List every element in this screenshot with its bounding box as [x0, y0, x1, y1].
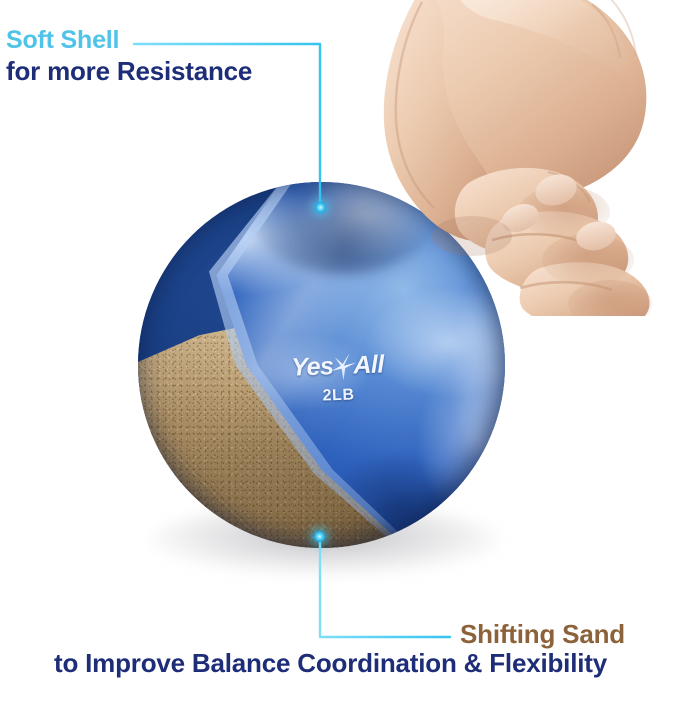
- product-photo: Yes All 2LB: [0, 0, 679, 720]
- product-callout-image: Yes All 2LB: [0, 0, 679, 720]
- bottom-leader-endpoint-dot: [314, 531, 325, 542]
- top-leader-endpoint-dot: [315, 202, 326, 213]
- callout-soft-shell-subtitle: for more Resistance: [6, 58, 252, 84]
- callout-shifting-sand-subtitle: to Improve Balance Coordination & Flexib…: [54, 650, 607, 676]
- callout-soft-shell-title: Soft Shell: [6, 28, 119, 53]
- callout-shifting-sand-title: Shifting Sand: [460, 621, 625, 647]
- hand-gripping-ball: [352, 0, 679, 316]
